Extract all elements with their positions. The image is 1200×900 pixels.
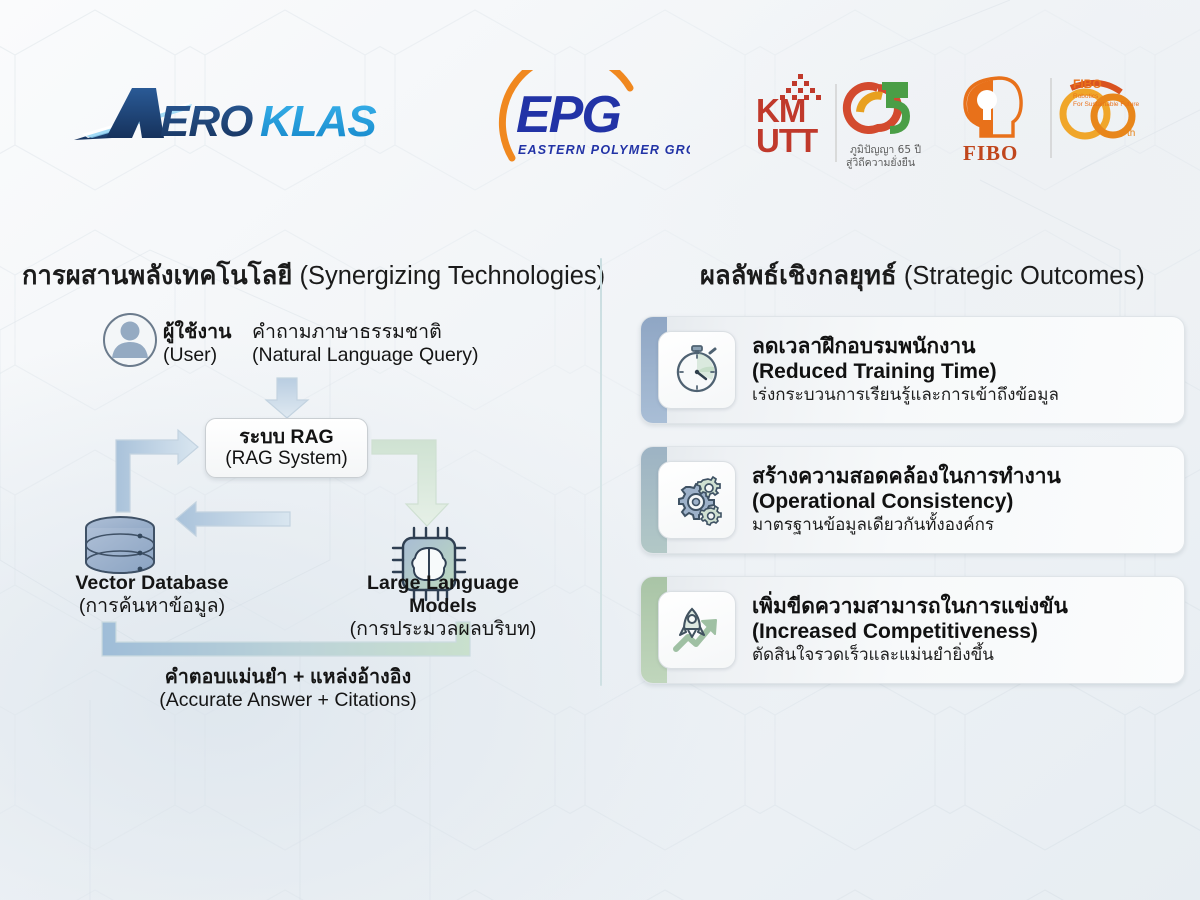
card-subtitle-thai: มาตรฐานข้อมูลเดียวกันทั้งองค์กร — [752, 515, 1061, 535]
card-title-thai: ลดเวลาฝึกอบรมพนักงาน — [752, 335, 1059, 359]
card-icon-container — [658, 591, 736, 669]
llm-label-thai: (การประมวลผลบริบท) — [333, 618, 553, 641]
logo-epg-tagline: EASTERN POLYMER GROUP — [518, 143, 690, 157]
card-title-thai: เพิ่มขีดความสามารถในการแข่งขัน — [752, 595, 1068, 619]
vector-database-label-english: Vector Database — [52, 572, 252, 595]
left-panel-heading: การผสานพลังเทคโนโลยี (Synergizing Techno… — [22, 256, 605, 296]
query-label-english: (Natural Language Query) — [252, 344, 479, 367]
rag-system-box: ระบบ RAG (RAG System) — [205, 418, 368, 478]
arrow-user-to-rag — [266, 378, 308, 418]
card-icon-container — [658, 461, 736, 539]
logo-fibo-sub1: FIBO — [1073, 77, 1102, 91]
outcome-card-operational-consistency[interactable]: สร้างความสอดคล้องในการทำงาน (Operational… — [640, 446, 1185, 554]
llm-label-english: Large Language Models — [333, 572, 553, 618]
card-icon-container — [658, 331, 736, 409]
logo-aeroklas: ERO KLAS AEROKLAS — [72, 86, 412, 148]
rocket-growth-icon — [670, 603, 724, 657]
user-avatar-icon — [104, 314, 156, 366]
logo-kmutt-line2: UTT — [756, 122, 818, 159]
right-heading-thai: ผลลัพธ์เชิงกลยุทธ์ — [700, 262, 897, 290]
rag-flow-diagram: ผู้ใช้งาน (User) คำถามภาษาธรรมชาติ (Natu… — [0, 300, 600, 730]
query-label-thai: คำถามภาษาธรรมชาติ — [252, 321, 479, 344]
outcome-card-reduced-training-time[interactable]: ลดเวลาฝึกอบรมพนักงาน (Reduced Training T… — [640, 316, 1185, 424]
card-title-thai: สร้างความสอดคล้องในการทำงาน — [752, 465, 1061, 489]
right-heading-english: (Strategic Outcomes) — [904, 262, 1145, 290]
slide-canvas: ERO KLAS AEROKLAS EPG EASTERN POLYMER GR… — [0, 0, 1200, 900]
query-label: คำถามภาษาธรรมชาติ (Natural Language Quer… — [252, 321, 479, 367]
arrow-vectordb-to-rag — [116, 430, 198, 512]
card-title-english: (Increased Competitiveness) — [752, 620, 1068, 644]
logo-fibo-text: FIBO — [963, 141, 1018, 165]
logo-fibo: FIBO FIBO Robotics For Sustainable Futur… — [955, 66, 1145, 172]
user-label-english: (User) — [163, 344, 232, 367]
rag-box-thai: ระบบ RAG — [239, 426, 333, 448]
answer-label-english: (Accurate Answer + Citations) — [133, 689, 443, 712]
logo-bar: ERO KLAS AEROKLAS EPG EASTERN POLYMER GR… — [0, 0, 1200, 196]
left-heading-thai: การผสานพลังเทคโนโลยี — [22, 262, 292, 290]
logo-kmutt: KM UTT ภูมิปัญญา 65 ปี สู่วิถีความยั่งยื… — [752, 70, 922, 172]
card-text: เพิ่มขีดความสามารถในการแข่งขัน (Increase… — [752, 595, 1068, 664]
panel-divider — [600, 258, 602, 686]
rag-box-english: (RAG System) — [225, 448, 347, 470]
logo-fibo-sub3: For Sustainable Future — [1073, 101, 1140, 108]
right-panel-heading: ผลลัพธ์เชิงกลยุทธ์ (Strategic Outcomes) — [700, 256, 1145, 296]
left-heading-english: (Synergizing Technologies) — [299, 262, 605, 290]
answer-label-thai: คำตอบแม่นยำ + แหล่งอ้างอิง — [133, 666, 443, 689]
llm-label: Large Language Models (การประมวลผลบริบท) — [333, 572, 553, 641]
outcome-card-increased-competitiveness[interactable]: เพิ่มขีดความสามารถในการแข่งขัน (Increase… — [640, 576, 1185, 684]
arrow-rag-to-llm — [372, 440, 448, 526]
user-label-thai: ผู้ใช้งาน — [163, 321, 232, 344]
svg-text:ERO: ERO — [160, 97, 253, 146]
vector-database-label-thai: (การค้นหาข้อมูล) — [52, 595, 252, 618]
logo-fibo-sub2: Robotics — [1073, 93, 1099, 100]
svg-text:KLAS: KLAS — [260, 97, 376, 146]
vector-database-label: Vector Database (การค้นหาข้อมูล) — [52, 572, 252, 618]
strategic-outcome-cards: ลดเวลาฝึกอบรมพนักงาน (Reduced Training T… — [640, 316, 1185, 706]
answer-label: คำตอบแม่นยำ + แหล่งอ้างอิง (Accurate Ans… — [133, 666, 443, 712]
logo-kmutt-th2: สู่วิถีความยั่งยืน — [846, 155, 915, 169]
card-text: สร้างความสอดคล้องในการทำงาน (Operational… — [752, 465, 1061, 534]
logo-fibo-suffix: th — [1127, 128, 1135, 139]
card-title-english: (Reduced Training Time) — [752, 360, 1059, 384]
logo-epg: EPG EASTERN POLYMER GROUP — [480, 70, 690, 170]
vector-database-icon — [86, 517, 154, 573]
card-subtitle-thai: เร่งกระบวนการเรียนรู้และการเข้าถึงข้อมูล — [752, 385, 1059, 405]
user-label: ผู้ใช้งาน (User) — [163, 321, 232, 367]
arrow-rag-to-vectordb — [176, 502, 290, 536]
logo-kmutt-th1: ภูมิปัญญา 65 ปี — [850, 143, 921, 156]
svg-text:EPG: EPG — [516, 86, 620, 144]
stopwatch-icon — [670, 343, 724, 397]
card-subtitle-thai: ตัดสินใจรวดเร็วและแม่นยำยิ่งขึ้น — [752, 645, 1068, 665]
card-title-english: (Operational Consistency) — [752, 490, 1061, 514]
card-text: ลดเวลาฝึกอบรมพนักงาน (Reduced Training T… — [752, 335, 1059, 404]
gears-icon — [670, 473, 724, 527]
